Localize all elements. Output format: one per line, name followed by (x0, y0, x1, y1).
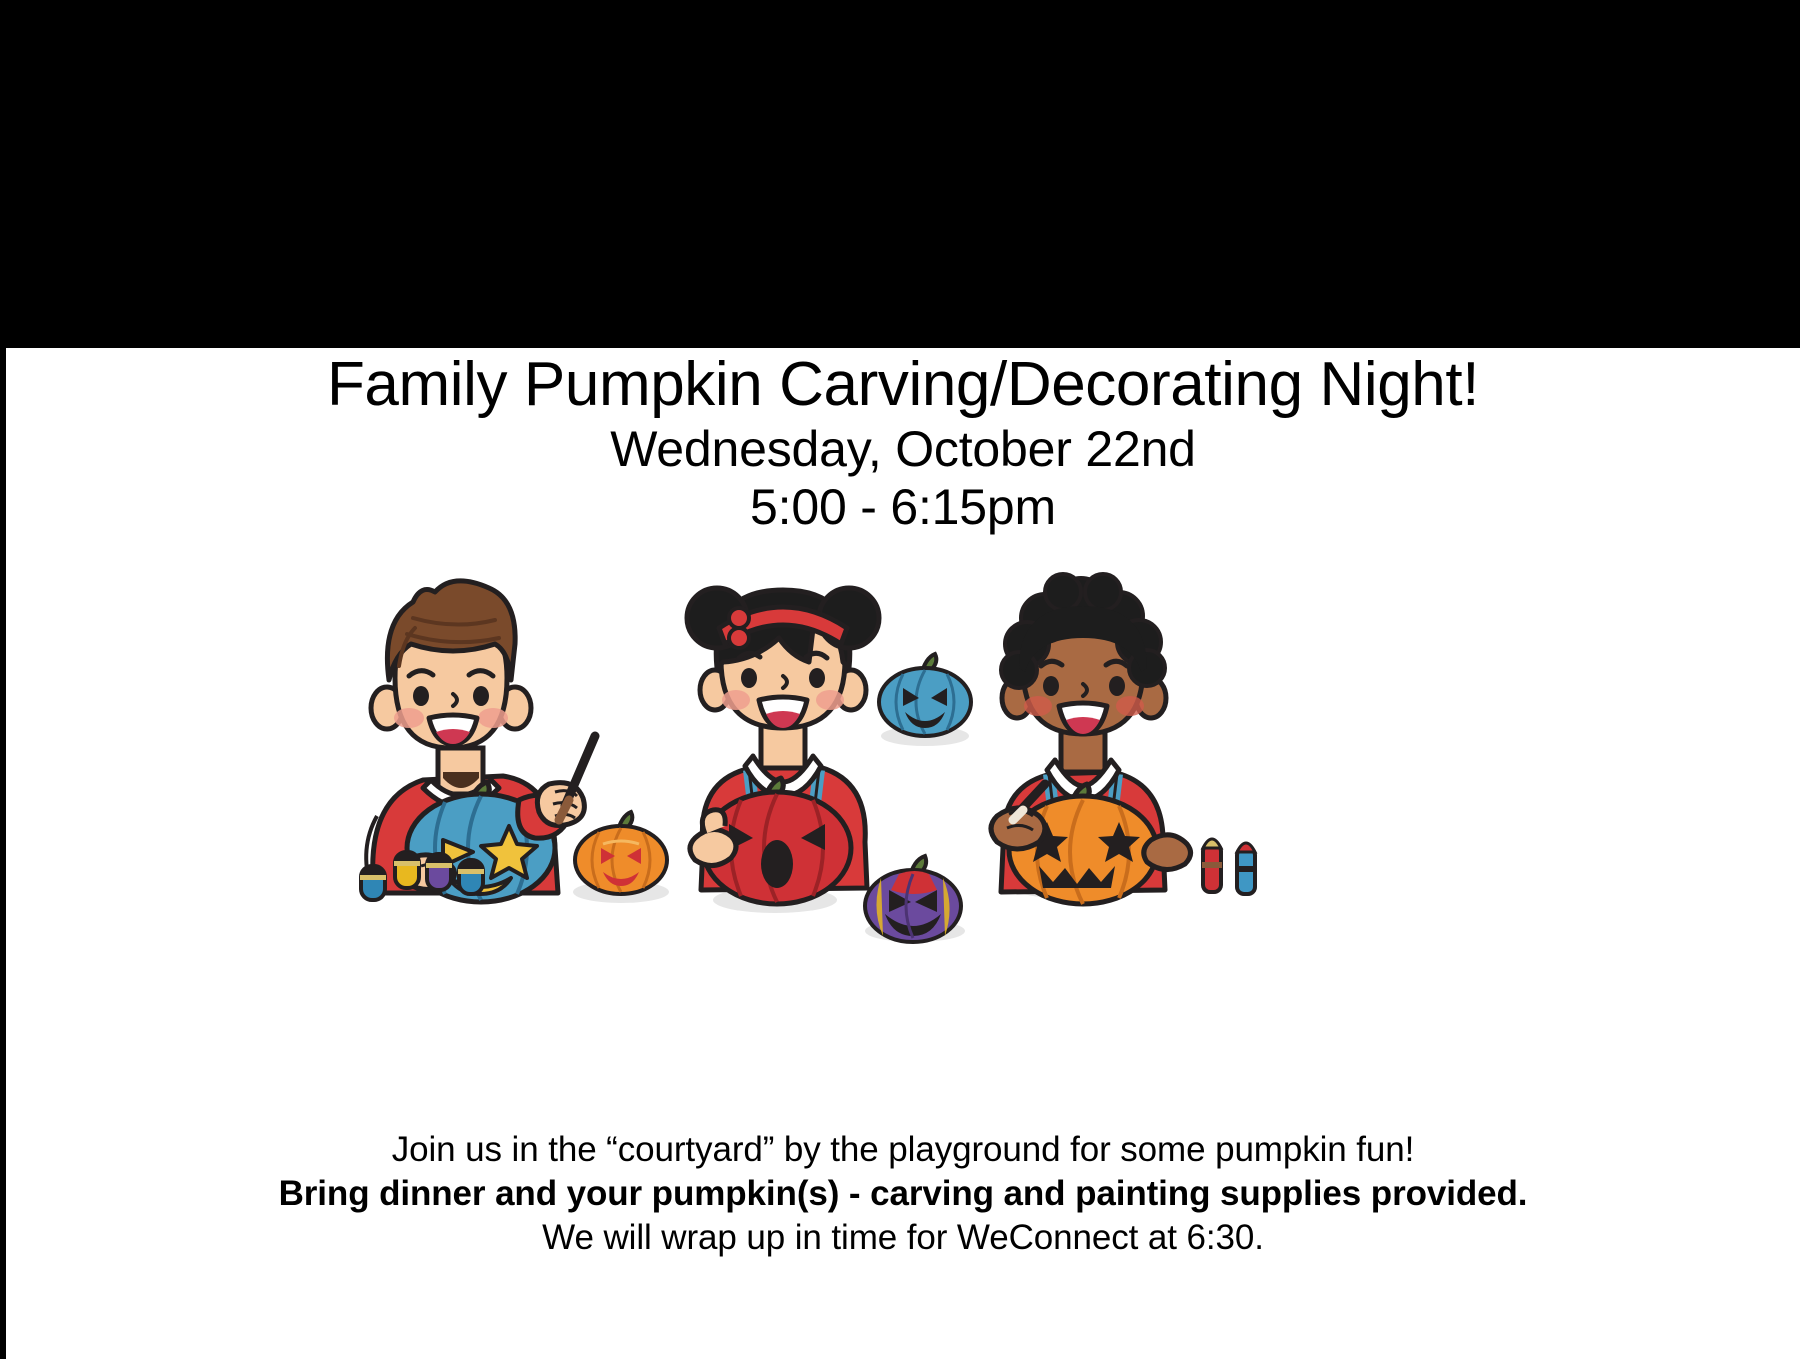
paint-bottle-purple (426, 853, 452, 890)
footer-line-1: Join us in the “courtyard” by the playgr… (6, 1128, 1800, 1172)
child-center (687, 588, 879, 904)
event-time: 5:00 - 6:15pm (6, 479, 1800, 535)
crayons-right (1202, 839, 1256, 894)
pumpkin-orange-small (575, 812, 667, 894)
crayon-blue (1236, 843, 1256, 894)
heading-block: Family Pumpkin Carving/Decorating Night!… (6, 352, 1800, 535)
paint-bottle-teal (458, 859, 484, 894)
paint-bottle-yellow (394, 851, 420, 888)
pumpkin-purple-small (865, 856, 961, 942)
event-date: Wednesday, October 22nd (6, 421, 1800, 477)
footer-line-2: Bring dinner and your pumpkin(s) - carvi… (6, 1172, 1800, 1216)
footer-block: Join us in the “courtyard” by the playgr… (6, 1128, 1800, 1260)
pumpkin-blue-small (879, 654, 971, 736)
illustration-svg (303, 548, 1303, 978)
child-right (991, 574, 1191, 904)
page-title: Family Pumpkin Carving/Decorating Night! (6, 352, 1800, 419)
crayon-red (1202, 839, 1222, 892)
footer-line-3: We will wrap up in time for WeConnect at… (6, 1216, 1800, 1260)
flyer-canvas: Family Pumpkin Carving/Decorating Night!… (0, 0, 1800, 1359)
flyer-slide: Family Pumpkin Carving/Decorating Night!… (6, 348, 1800, 1359)
illustration (303, 548, 1303, 978)
paint-bottle-blue (360, 865, 386, 900)
black-top-band (0, 0, 1800, 348)
